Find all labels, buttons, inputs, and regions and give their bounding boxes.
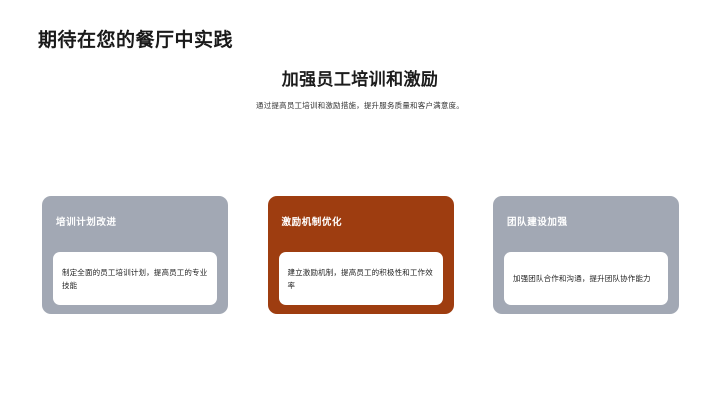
page-title: 期待在您的餐厅中实践	[38, 25, 233, 52]
section-subtitle: 通过提高员工培训和激励措施，提升服务质量和客户满意度。	[0, 100, 720, 112]
card-body-text: 建立激励机制，提高员工的积极性和工作效率	[288, 266, 434, 292]
cards-row: 培训计划改进 制定全面的员工培训计划，提高员工的专业技能 激励机制优化 建立激励…	[42, 196, 679, 314]
card-training-plan[interactable]: 培训计划改进 制定全面的员工培训计划，提高员工的专业技能	[42, 196, 228, 314]
card-incentive-mechanism[interactable]: 激励机制优化 建立激励机制，提高员工的积极性和工作效率	[268, 196, 454, 314]
card-body-box: 建立激励机制，提高员工的积极性和工作效率	[279, 252, 443, 305]
slide-canvas: 期待在您的餐厅中实践 加强员工培训和激励 通过提高员工培训和激励措施，提升服务质…	[0, 0, 720, 404]
section-heading: 加强员工培训和激励	[0, 68, 720, 92]
card-body-box: 加强团队合作和沟通，提升团队协作能力	[504, 252, 668, 305]
card-team-building[interactable]: 团队建设加强 加强团队合作和沟通，提升团队协作能力	[493, 196, 679, 314]
card-body-text: 加强团队合作和沟通，提升团队协作能力	[513, 272, 651, 285]
card-title: 培训计划改进	[56, 216, 228, 229]
card-title: 激励机制优化	[282, 216, 454, 229]
card-body-text: 制定全面的员工培训计划，提高员工的专业技能	[62, 266, 208, 292]
card-title: 团队建设加强	[507, 216, 679, 229]
card-body-box: 制定全面的员工培训计划，提高员工的专业技能	[53, 252, 217, 305]
heading-block: 加强员工培训和激励 通过提高员工培训和激励措施，提升服务质量和客户满意度。	[0, 68, 720, 112]
